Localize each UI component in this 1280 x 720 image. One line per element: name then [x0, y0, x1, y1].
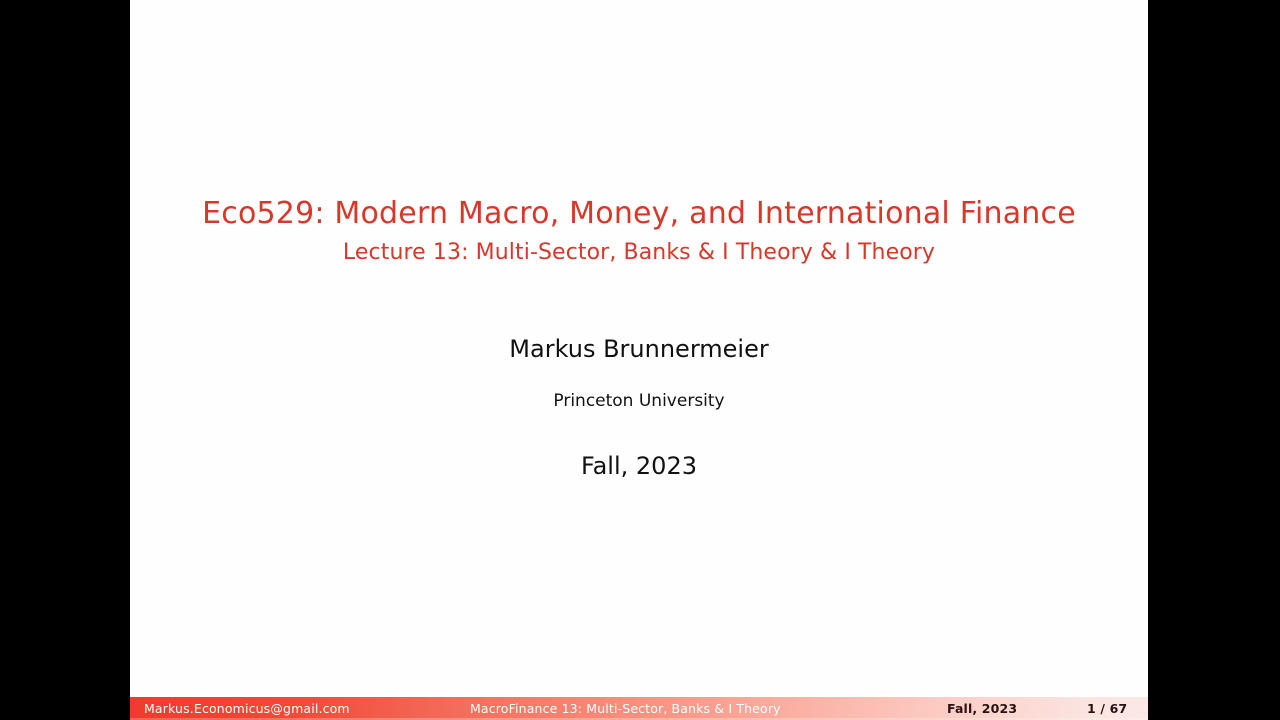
- left-letterbox: [0, 0, 130, 720]
- presentation-viewer: Eco529: Modern Macro, Money, and Interna…: [0, 0, 1280, 720]
- author-block: Markus Brunnermeier Princeton University…: [130, 333, 1148, 483]
- footer-date: Fall, 2023: [947, 701, 1017, 716]
- author-name: Markus Brunnermeier: [130, 333, 1148, 366]
- slide-page[interactable]: Eco529: Modern Macro, Money, and Interna…: [130, 0, 1148, 720]
- slide-date: Fall, 2023: [130, 450, 1148, 483]
- footer-course-title: MacroFinance 13: Multi-Sector, Banks & I…: [470, 701, 781, 716]
- title-block: Eco529: Modern Macro, Money, and Interna…: [130, 193, 1148, 268]
- footer-email[interactable]: Markus.Economicus@gmail.com: [144, 701, 350, 716]
- slide-subtitle: Lecture 13: Multi-Sector, Banks & I Theo…: [130, 238, 1148, 268]
- slide-footer-bar: Markus.Economicus@gmail.com MacroFinance…: [130, 697, 1148, 720]
- author-affiliation: Princeton University: [130, 389, 1148, 413]
- footer-page-number: 1 / 67: [1087, 701, 1127, 716]
- slide-title: Eco529: Modern Macro, Money, and Interna…: [130, 193, 1148, 235]
- right-letterbox: [1148, 0, 1280, 720]
